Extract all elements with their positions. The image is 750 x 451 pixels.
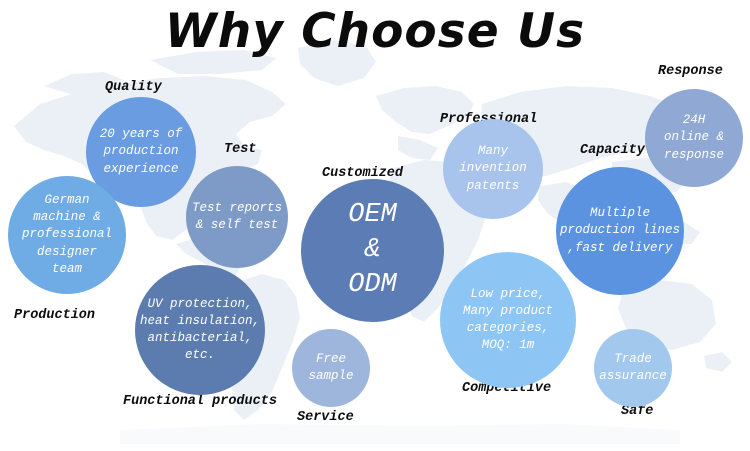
bubble-customized[interactable]: OEM & ODM (301, 179, 444, 322)
bubble-capacity[interactable]: Multiple production lines ,fast delivery (556, 167, 684, 295)
infographic-canvas: Why Choose Us Quality 20 years of produc… (0, 0, 750, 451)
bubble-quality-line-3: experience (86, 161, 196, 178)
bubble-service[interactable]: Free sample (292, 329, 370, 407)
bubble-professional-line-1: Many (443, 143, 543, 160)
bubble-competitive-line-3: categories, (440, 320, 576, 337)
bubble-competitive-line-4: MOQ: 1m (440, 337, 576, 354)
bubble-service-line-2: sample (292, 368, 370, 385)
bubble-functional-line-3: antibacterial, (135, 330, 265, 347)
bubble-customized-line-2: & (301, 233, 444, 268)
caption-quality: Quality (105, 80, 162, 95)
bubble-competitive-line-1: Low price, (440, 286, 576, 303)
bubble-response-line-3: response (645, 147, 743, 164)
bubble-response-line-1: 24H (645, 112, 743, 129)
bubble-production-line-3: professional (8, 226, 126, 243)
bubble-professional[interactable]: Many invention patents (443, 119, 543, 219)
bubble-quality-line-2: production (86, 143, 196, 160)
bubble-capacity-line-1: Multiple (556, 205, 684, 222)
bubble-production-line-5: team (8, 261, 126, 278)
bubble-test[interactable]: Test reports & self test (186, 166, 288, 268)
bubble-functional-products[interactable]: UV protection, heat insulation, antibact… (135, 265, 265, 395)
bubble-professional-line-3: patents (443, 178, 543, 195)
bubble-production-line-1: German (8, 192, 126, 209)
bubble-safe-line-1: Trade (594, 351, 672, 368)
bubble-safe-line-2: assurance (594, 368, 672, 385)
bubble-competitive[interactable]: Low price, Many product categories, MOQ:… (440, 252, 576, 388)
caption-service: Service (297, 410, 354, 425)
bubble-response[interactable]: 24H online & response (645, 89, 743, 187)
bubble-capacity-line-2: production lines (556, 222, 684, 239)
bubble-test-line-2: & self test (186, 217, 288, 234)
caption-test: Test (224, 142, 256, 157)
bubble-customized-line-1: OEM (301, 198, 444, 233)
bubble-test-line-1: Test reports (186, 200, 288, 217)
caption-production: Production (14, 308, 95, 323)
bubble-production-line-4: designer (8, 244, 126, 261)
bubble-production[interactable]: German machine & professional designer t… (8, 176, 126, 294)
bubble-service-line-1: Free (292, 351, 370, 368)
bubble-functional-line-1: UV protection, (135, 296, 265, 313)
bubble-functional-line-2: heat insulation, (135, 313, 265, 330)
bubble-response-line-2: online & (645, 129, 743, 146)
bubble-safe[interactable]: Trade assurance (594, 329, 672, 407)
caption-functional-products: Functional products (123, 394, 277, 409)
bubble-production-line-2: machine & (8, 209, 126, 226)
caption-response: Response (658, 64, 723, 79)
bubble-professional-line-2: invention (443, 160, 543, 177)
bubble-capacity-line-3: ,fast delivery (556, 240, 684, 257)
bubble-customized-line-3: ODM (301, 268, 444, 303)
bubble-quality-line-1: 20 years of (86, 126, 196, 143)
caption-capacity: Capacity (580, 143, 645, 158)
page-title: Why Choose Us (0, 4, 750, 59)
bubble-competitive-line-2: Many product (440, 303, 576, 320)
bubble-functional-line-4: etc. (135, 347, 265, 364)
